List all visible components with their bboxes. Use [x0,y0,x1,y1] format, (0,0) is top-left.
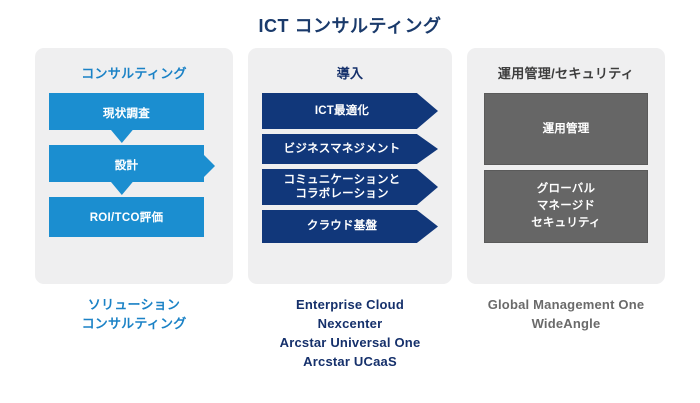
arrow-bar-label: ビジネスマネジメント [284,142,401,156]
diagram-columns: コンサルティング 現状調査 設計 ROI/TCO評価 導入 ICT最適化 ビジネ… [0,48,700,288]
caption-deployment: Enterprise Cloud Nexcenter Arcstar Unive… [248,296,452,371]
arrow-bar-label: コミュニケーションと コラボレーション [284,173,401,202]
gray-block-operations-management[interactable]: 運用管理 [484,93,648,165]
caption-line: Nexcenter [248,315,452,334]
page-title: ICT コンサルティング [0,12,700,38]
arrow-right-icon [204,155,215,177]
arrow-bar-label: クラウド基盤 [307,219,377,233]
consulting-step-stack: 現状調査 設計 ROI/TCO評価 [35,93,233,273]
caption-consulting: ソリューション コンサルティング [35,296,233,334]
gray-block-label: グローバル マネージド セキュリティ [531,181,601,231]
caption-line: Arcstar Universal One [248,334,452,353]
gray-block-label: 運用管理 [543,121,590,138]
column-consulting: コンサルティング 現状調査 設計 ROI/TCO評価 [35,48,233,284]
step-box-roi-tco[interactable]: ROI/TCO評価 [49,197,204,237]
arrow-bar-label: ICT最適化 [315,104,369,118]
column-operations-heading: 運用管理/セキュリティ [467,63,665,82]
arrow-bar-cloud-infrastructure[interactable]: クラウド基盤 [262,210,438,243]
step-box-current-survey[interactable]: 現状調査 [49,93,204,143]
step-box-label: ROI/TCO評価 [90,209,164,225]
column-operations: 運用管理/セキュリティ 運用管理 グローバル マネージド セキュリティ [467,48,665,284]
caption-line: ソリューション [35,296,233,315]
caption-operations: Global Management One WideAngle [467,296,665,334]
arrow-bar-business-management[interactable]: ビジネスマネジメント [262,134,438,164]
column-deployment-heading: 導入 [248,63,452,82]
caption-line: Arcstar UCaaS [248,353,452,372]
step-box-design[interactable]: 設計 [49,145,204,195]
deployment-arrow-stack: ICT最適化 ビジネスマネジメント コミュニケーションと コラボレーション クラ… [248,93,452,273]
step-box-label: 現状調査 [103,105,150,121]
arrow-bar-communication-collaboration[interactable]: コミュニケーションと コラボレーション [262,169,438,205]
operations-block-stack: 運用管理 グローバル マネージド セキュリティ [467,93,665,273]
caption-line: Global Management One [467,296,665,315]
column-consulting-heading: コンサルティング [35,63,233,82]
caption-line: コンサルティング [35,315,233,334]
arrow-bar-ict-optimization[interactable]: ICT最適化 [262,93,438,129]
gray-block-global-managed-security[interactable]: グローバル マネージド セキュリティ [484,170,648,243]
step-box-label: 設計 [115,157,139,173]
caption-line: Enterprise Cloud [248,296,452,315]
column-deployment: 導入 ICT最適化 ビジネスマネジメント コミュニケーションと コラボレーション… [248,48,452,284]
caption-line: WideAngle [467,315,665,334]
